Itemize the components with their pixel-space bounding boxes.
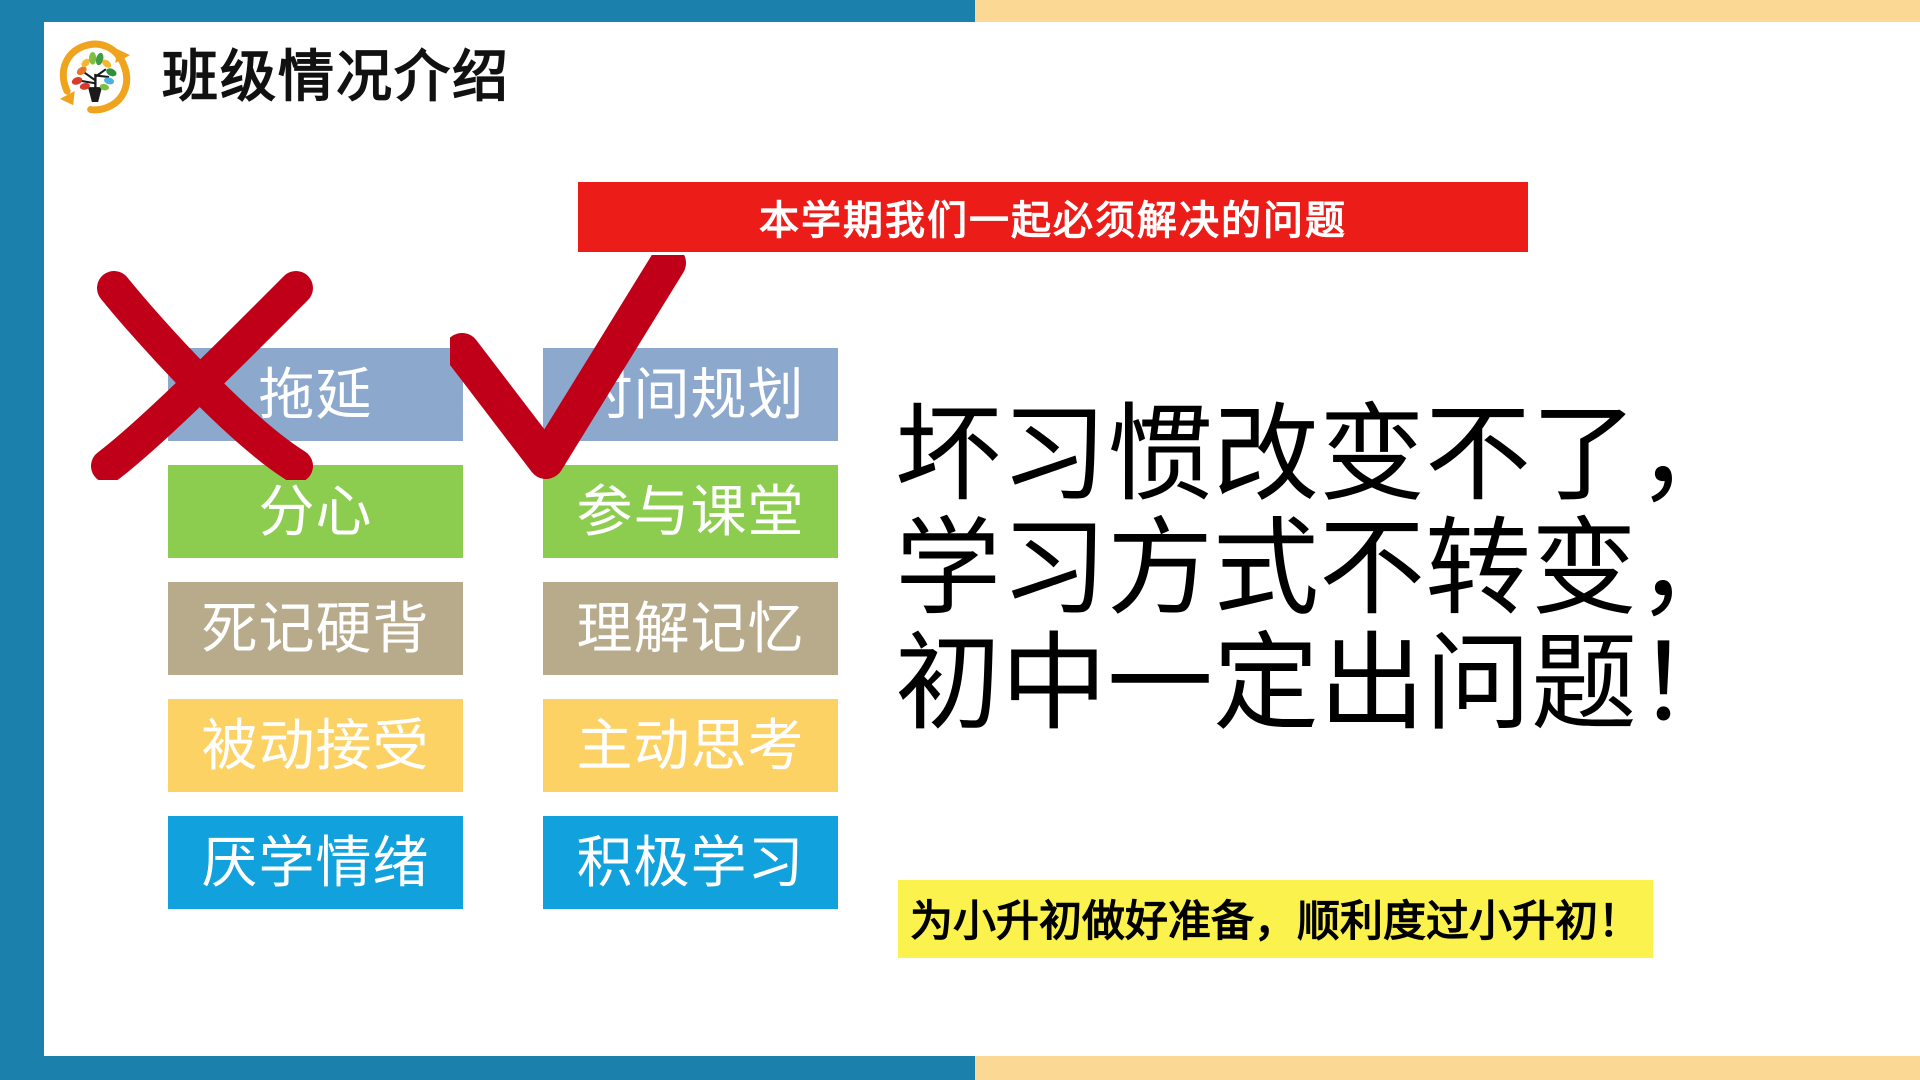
warning-message-line: 初中一定出问题！ [895, 627, 1905, 741]
good-habit-tag: 时间规划 [543, 348, 838, 441]
slide-header: 班级情况介绍 [56, 38, 510, 116]
warning-message-line: 坏习惯改变不了， [895, 398, 1905, 512]
left-blue-band [0, 0, 44, 1080]
slide-canvas: 班级情况介绍 本学期我们一起必须解决的问题 拖延 时间规划 分心 参与课堂 死记… [0, 0, 1920, 1080]
warning-message-line: 学习方式不转变， [895, 512, 1905, 626]
bad-habit-tag: 被动接受 [168, 699, 463, 792]
good-habit-tag: 参与课堂 [543, 465, 838, 558]
bad-habit-tag: 分心 [168, 465, 463, 558]
page-title: 班级情况介绍 [162, 49, 510, 105]
growing-tree-logo-icon [56, 38, 134, 116]
good-habit-tag: 主动思考 [543, 699, 838, 792]
bad-habit-tag: 厌学情绪 [168, 816, 463, 909]
problem-statement-label: 本学期我们一起必须解决的问题 [759, 188, 1347, 246]
good-habit-tag: 积极学习 [543, 816, 838, 909]
grid-gutter [463, 465, 543, 558]
slogan-highlight: 为小升初做好准备，顺利度过小升初！ [898, 880, 1653, 958]
grid-gutter [463, 348, 543, 441]
grid-gutter [463, 582, 543, 675]
top-blue-band [0, 0, 975, 22]
slogan-label: 为小升初做好准备，顺利度过小升初！ [910, 898, 1641, 946]
bottom-blue-band [0, 1056, 975, 1080]
problem-statement-banner: 本学期我们一起必须解决的问题 [578, 182, 1528, 252]
good-habit-tag: 理解记忆 [543, 582, 838, 675]
grid-gutter [463, 699, 543, 792]
bad-habit-tag: 死记硬背 [168, 582, 463, 675]
bad-habit-tag: 拖延 [168, 348, 463, 441]
grid-gutter [463, 816, 543, 909]
warning-message: 坏习惯改变不了， 学习方式不转变， 初中一定出问题！ [895, 398, 1905, 741]
habit-comparison-grid: 拖延 时间规划 分心 参与课堂 死记硬背 理解记忆 被动接受 主动思考 厌学情绪… [168, 348, 838, 909]
